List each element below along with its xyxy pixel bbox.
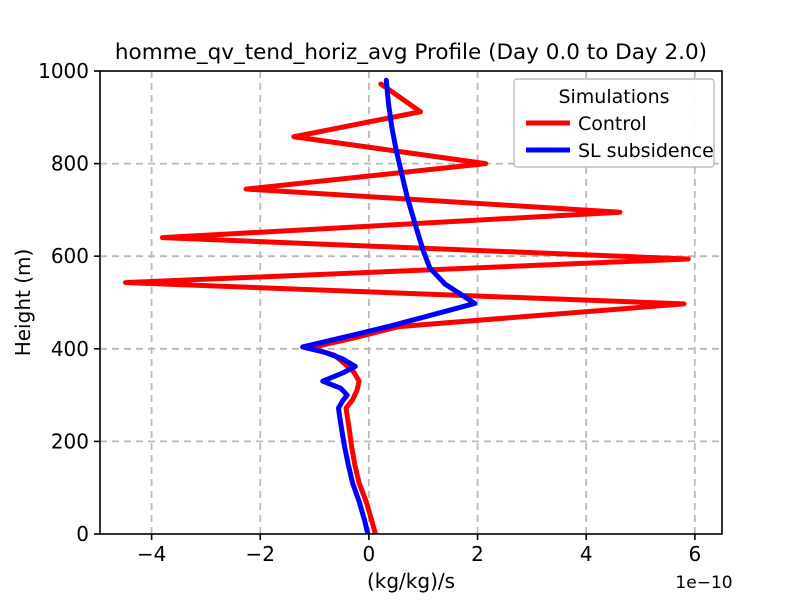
ytick-label-3: 600 <box>51 244 89 268</box>
legend-title: Simulations <box>558 86 669 108</box>
ytick-label-5: 1000 <box>38 59 89 83</box>
x-axis-label: (kg/kg)/s <box>367 569 455 593</box>
xtick-label-1: −2 <box>246 542 275 566</box>
ytick-label-1: 200 <box>51 429 89 453</box>
ytick-label-4: 800 <box>51 152 89 176</box>
xtick-label-3: 2 <box>471 542 484 566</box>
xtick-label-4: 4 <box>580 542 593 566</box>
ytick-label-0: 0 <box>76 522 89 546</box>
chart-legend: SimulationsControlSL subsidence <box>514 79 714 167</box>
chart-title: homme_qv_tend_horiz_avg Profile (Day 0.0… <box>115 40 707 65</box>
figure-canvas: −4−2024602004006008001000 homme_qv_tend_… <box>0 0 800 600</box>
xtick-label-0: −4 <box>137 542 166 566</box>
legend-label-1[interactable]: SL subsidence <box>578 140 714 162</box>
profile-chart: −4−2024602004006008001000 homme_qv_tend_… <box>0 0 800 600</box>
ytick-label-2: 400 <box>51 337 89 361</box>
x-axis-offset-text: 1e−10 <box>675 573 732 593</box>
xtick-label-2: 0 <box>363 542 376 566</box>
legend-label-0[interactable]: Control <box>578 113 647 135</box>
xtick-label-5: 6 <box>688 542 701 566</box>
y-axis-label: Height (m) <box>11 249 35 357</box>
